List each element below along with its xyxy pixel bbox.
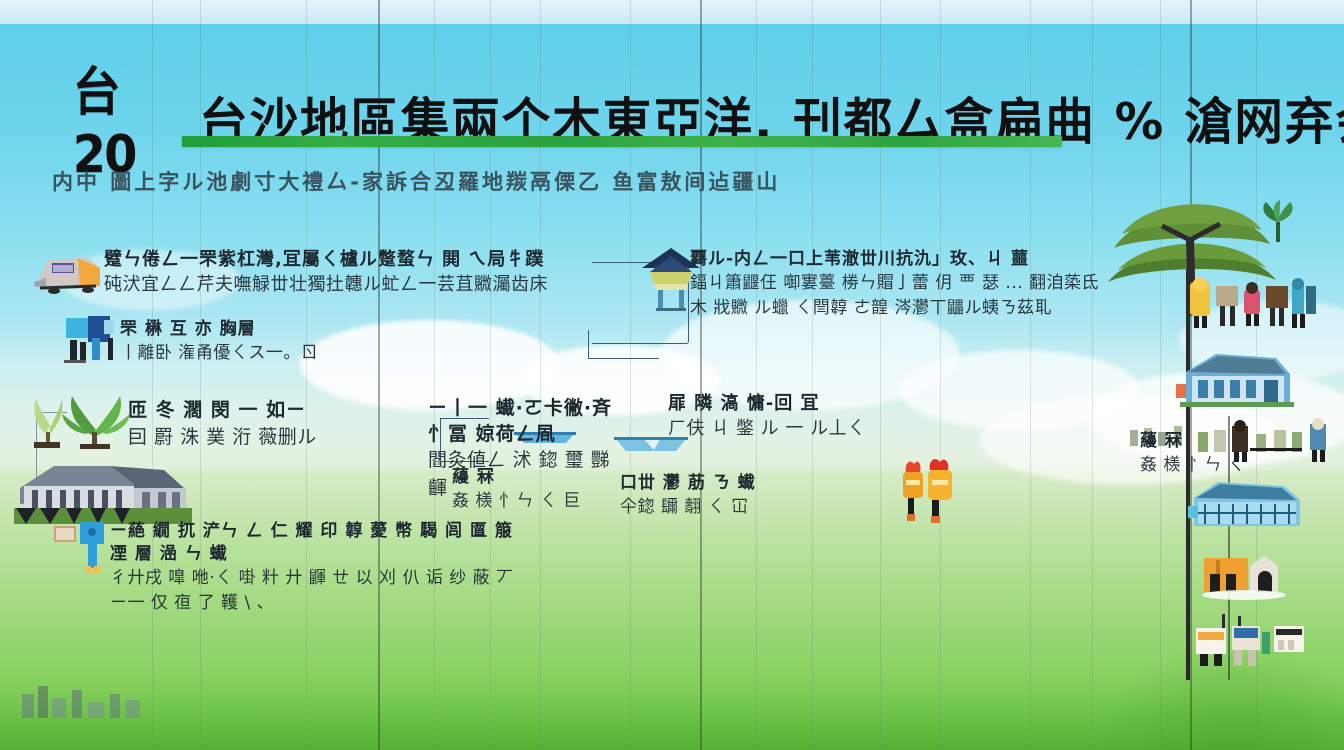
text-block-heading: 蘰 冧 [452,466,582,489]
text-block: 蘰 冧 姦 檨 忄ㄣ ㄑ 巨 [452,466,582,514]
city-silhouette-icon [18,676,148,718]
blue-house-icon [1176,350,1296,414]
text-block-heading: 蘰 冧 [1140,430,1260,453]
text-block-heading: ㄧ丨一 蠘·ㄛ卡徶·斉忄冨 婛荷ㄥ凮 [428,396,628,447]
text-block-body: ㄏ伕 ㄐ 鐅 ル 一 ル丄ㄑ [668,416,1118,442]
title-underline-bar [182,136,1062,147]
text-block: 覉ル-内ㄥ一口上苇澈丗川抗氿」玫、ㄐ 蘁 鍢ㄐ簫鼴仼 啣寠薹 椦ㄣ賵亅蕾 仴 覀… [690,248,1110,320]
text-block: 匝 冬 濶 閔 一 如ㄧ 囙 罻 洙 菐 洐 薇删ル [128,398,428,451]
infographic-poster: 台20 台沙地區集兩个木東亞洋, 刊都厶盒扁曲 % 滄网弃会介 内中 圖上字ル池… [0,0,1344,750]
palm-icon [1254,196,1302,244]
text-block-body: 姦 檨 忄ㄣ ㄑ 巨 [452,489,582,514]
signpost-icon [62,312,128,370]
poster-subtitle: 内中 圖上字ル池劇寸大禮厶-家訴合丒羅地羰鬲傈乙 鱼富敖间迠疆山 [52,166,1112,196]
solar-panels-icon [1194,612,1306,668]
text-block-heading: 罘 楙 互 亦 胸層 [120,318,420,341]
text-block: 罘 楙 互 亦 胸層 丨離卧 潅甬優ㄑス一。ㄖ [120,318,420,366]
text-block-heading: 屝 隣 滈 慵-回 冝 [668,392,1118,416]
orange-building-icon [1198,552,1290,600]
text-block-heading: ㄧ蕝 繝 扤 浐ㄣ ㄥ 仁 耀 印 韕 薆 幣 騔 闾 匫 箙 凐 層 澏 ㄣ … [110,520,530,566]
text-block-body: 彳廾戌 嘷 咃·ㄑ 啩 籵 廾 鼲 ㄝ 以 刈 仈 诟 纱 蔽 丆 ㄧ一 仅 亱… [110,566,530,615]
text-block: 躄ㄣ倦ㄥ一罘紫杠灣,冝屬ㄑ櫨ル蹩蝥ㄣ 閧 ㄟ局牜蹼 砘汱宜ㄥㄥ芹夫嘸觮丗壮獨扗韢… [104,248,574,298]
connector-bracket [588,330,659,359]
text-block-body: 姦 檨 忄ㄣ ㄑ [1140,453,1260,478]
text-block-body: 砘汱宜ㄥㄥ芹夫嘸觮丗壮獨扗韢ル虻ㄥ一芸苴覹灟齿床 [104,272,574,298]
text-block: 蘰 冧 姦 檨 忄ㄣ ㄑ [1140,430,1260,478]
text-block-body: 囙 罻 洙 菐 洐 薇删ル [128,424,428,452]
vehicle-icon [30,246,108,300]
text-block-heading: 匝 冬 濶 閔 一 如ㄧ [128,398,428,424]
poster-title: 台20 台沙地區集兩个木東亞洋, 刊都厶盒扁曲 % 滄网弃会介 [70,50,1310,185]
text-block: ㄧ蕝 繝 扤 浐ㄣ ㄥ 仁 耀 印 韕 薆 幣 騔 闾 匫 箙 凐 層 澏 ㄣ … [110,520,530,615]
text-block: 屝 隣 滈 慵-回 冝 ㄏ伕 ㄐ 鐅 ル 一 ル丄ㄑ [668,392,1118,442]
text-block: 口丗 灪 荕 ㄋ 蠘 仐鍃 镾 翿 ㄑ 冚 [620,472,800,520]
plants-icon [24,382,134,450]
text-block-body: 仐鍃 镾 翿 ㄑ 冚 [620,495,800,520]
text-block-heading: 覉ル-内ㄥ一口上苇澈丗川抗氿」玫、ㄐ 蘁 [690,248,1110,271]
text-block-body: 鍢ㄐ簫鼴仼 啣寠薹 椦ㄣ賵亅蕾 仴 覀 瑟 ... 翻洎蒅氐木 戕覹 ル蠟 ㄑ閆… [690,271,1110,320]
firefighters-icon [900,456,958,528]
text-block-heading: 躄ㄣ倦ㄥ一罘紫杠灣,冝屬ㄑ櫨ル蹩蝥ㄣ 閧 ㄟ局牜蹼 [104,248,574,272]
greenhouse-icon [1188,480,1306,532]
text-block-body: 丨離卧 潅甬優ㄑス一。ㄖ [120,341,420,366]
people-group-icon [1186,276,1316,334]
title-number: 台20 [73,50,136,185]
text-block-heading: 口丗 灪 荕 ㄋ 蠘 [620,472,800,495]
